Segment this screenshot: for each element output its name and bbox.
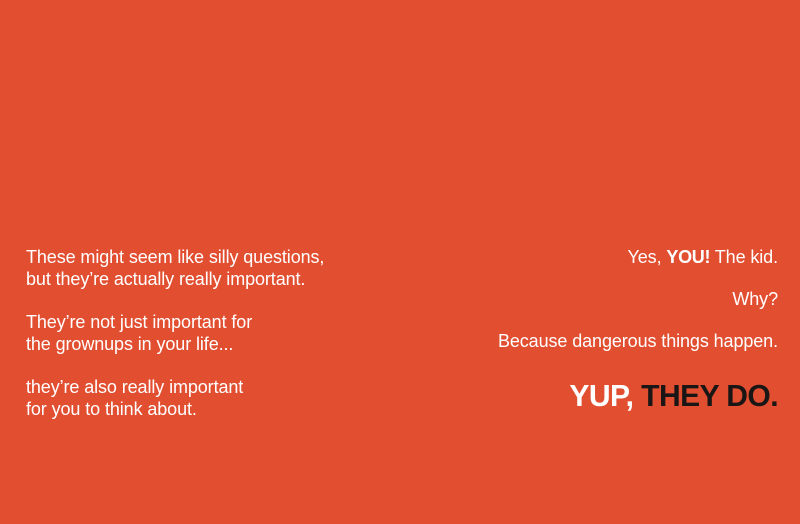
right-line-1-prefix: Yes, [628,247,667,267]
book-spread: These might seem like silly questions, b… [0,0,800,524]
right-page: Yes, YOU! The kid. Why? Because dangerou… [400,0,800,524]
right-line-3-suffix: Because dangerous things happen. [498,331,778,351]
right-line-1-suffix: The kid. [710,247,778,267]
left-paragraph-3: they’re also really important for you to… [26,376,378,420]
headline-yup-they-do: YUP, THEY DO. [433,379,778,413]
right-line-because: Because dangerous things happen. [422,330,778,352]
left-page: These might seem like silly questions, b… [0,0,400,524]
headline-black-text: THEY DO. [641,378,778,413]
right-line-2-suffix: Why? [732,289,778,309]
headline-white-part: YUP, [569,378,633,413]
left-page-copy: These might seem like silly questions, b… [26,246,378,420]
right-line-1-emphasis: YOU! [666,247,710,267]
right-page-copy: Yes, YOU! The kid. Why? Because dangerou… [422,246,778,413]
left-paragraph-1: These might seem like silly questions, b… [26,246,378,290]
right-line-why: Why? [422,288,778,310]
left-paragraph-2: They’re not just important for the grown… [26,311,378,355]
right-line-yes-you: Yes, YOU! The kid. [422,246,778,268]
headline-black-part [633,378,641,413]
